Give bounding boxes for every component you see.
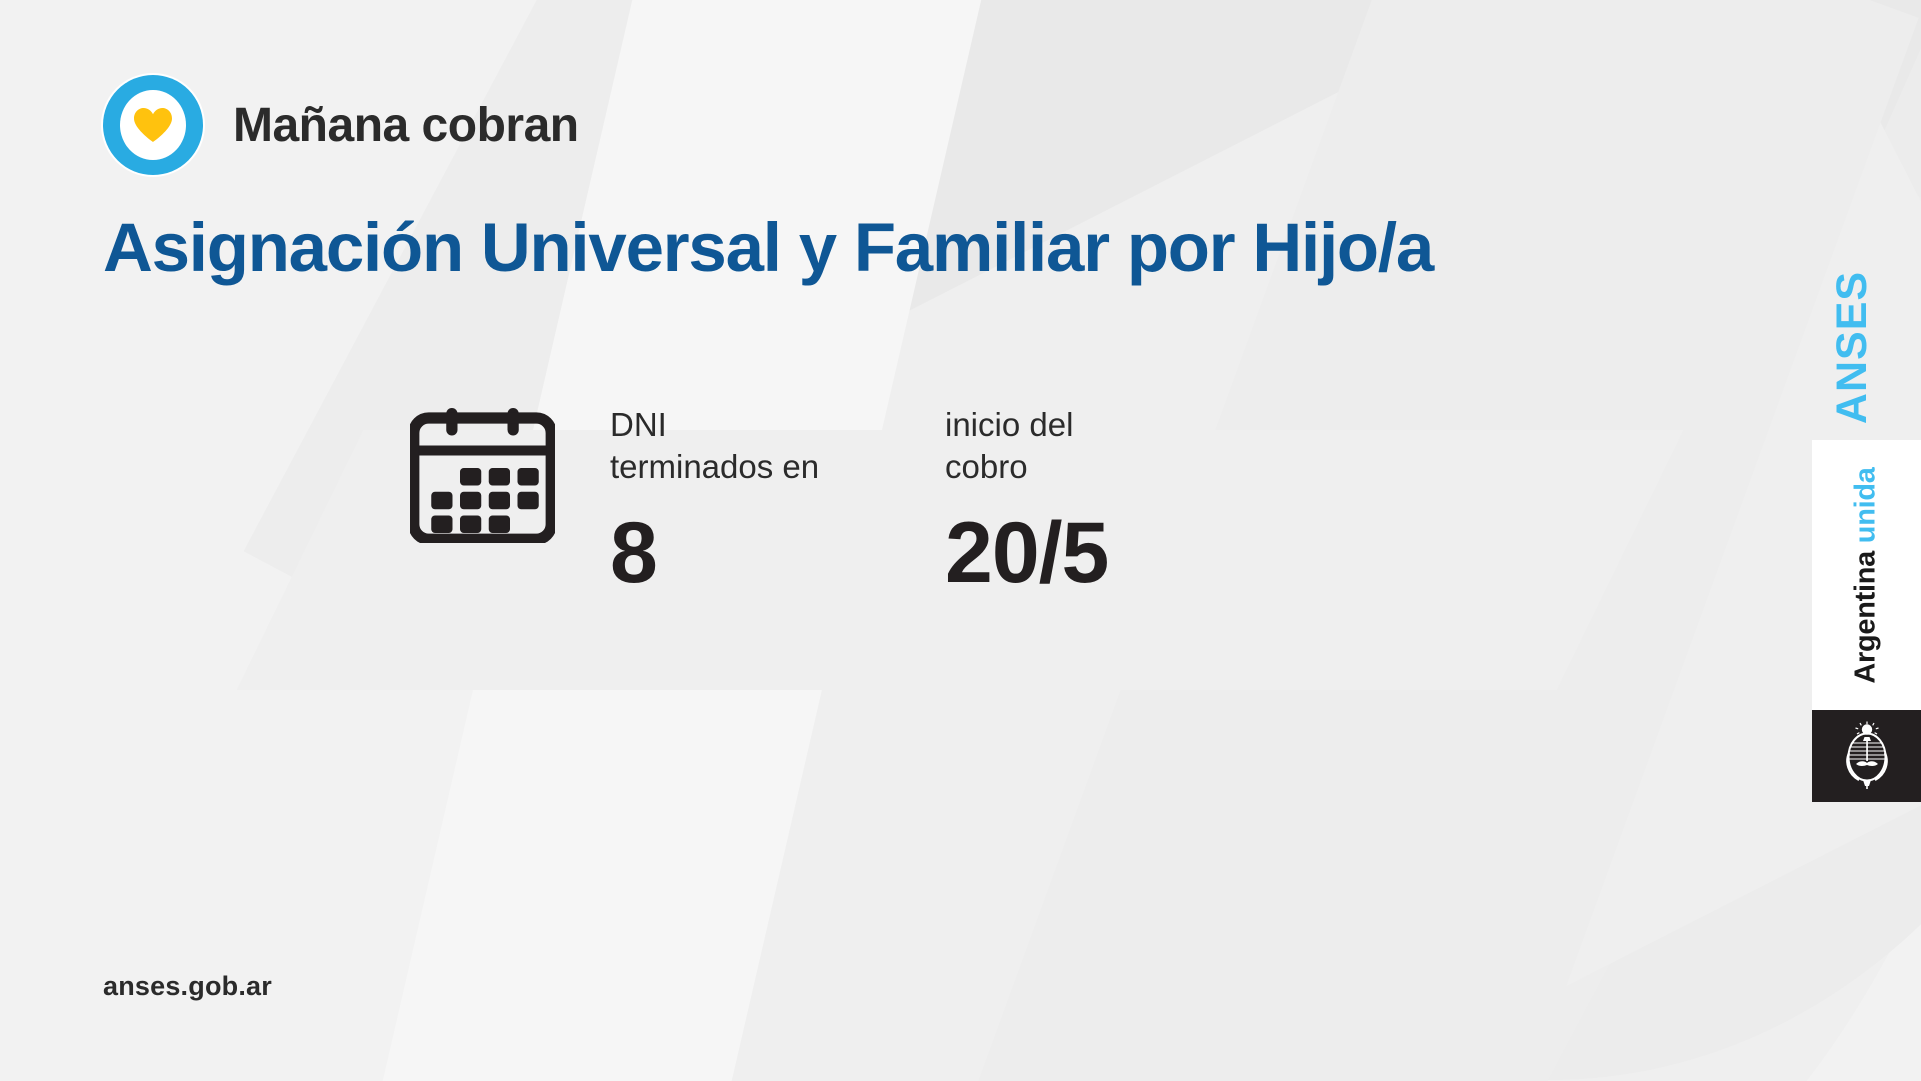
coat-of-arms-block [1812,710,1921,802]
kicker-text: Mañana cobran [233,98,579,153]
calendar-icon-wrapper [410,400,610,548]
payment-date-value: 20/5 [945,510,1285,596]
dni-label: DNI terminados en [610,404,945,488]
calendar-icon [410,408,555,543]
argentina-heart-logo [103,75,203,175]
unida-word: unida [1850,467,1882,543]
logo-inner-circle [120,90,186,160]
anses-payment-announcement-graphic: Mañana cobran Asignación Universal y Fam… [0,0,1921,1081]
anses-wordmark-label: ANSES [1829,270,1878,423]
right-rail: ANSES Argentina unida [1781,0,1921,1081]
argentina-word: Argentina [1850,550,1882,683]
argentina-coat-of-arms-icon [1839,720,1895,792]
payment-date-label: inicio del cobro [945,404,1285,488]
heart-icon [133,107,173,143]
argentina-unida-block: Argentina unida [1812,440,1921,710]
argentina-unida-text: Argentina unida [1850,467,1883,683]
logo-outer-ring [103,75,203,175]
payment-info-row: DNI terminados en 8 inicio del cobro 20/… [410,400,1285,596]
dni-value: 8 [610,510,945,596]
site-url[interactable]: anses.gob.ar [103,971,272,1002]
payment-date-column: inicio del cobro 20/5 [945,400,1285,596]
anses-wordmark: ANSES [1793,272,1913,422]
brand-header: Mañana cobran [103,75,579,175]
page-title: Asignación Universal y Familiar por Hijo… [103,208,1433,287]
dni-info-column: DNI terminados en 8 [610,400,945,596]
